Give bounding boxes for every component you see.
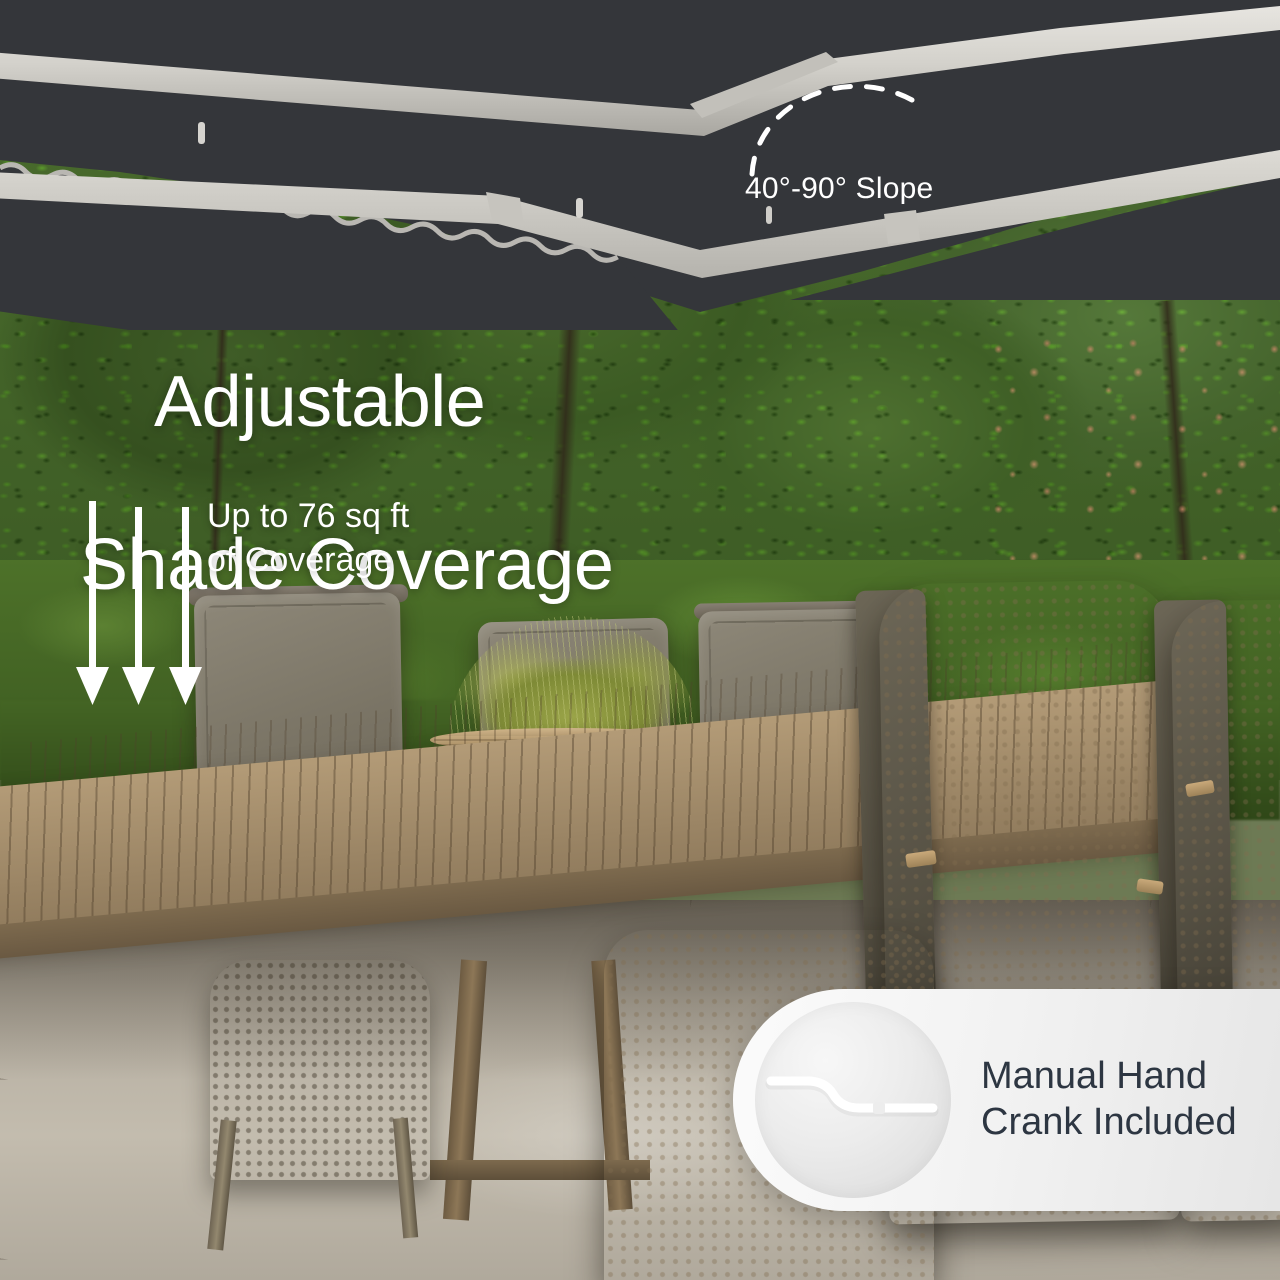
callout-line-2: Crank Included	[981, 1100, 1237, 1146]
product-banner: Adjustable Shade Coverage Up to 76 sq ft…	[0, 0, 1280, 1280]
slope-label: 40°-90° Slope	[745, 172, 933, 206]
headline-line-1: Adjustable	[154, 362, 485, 442]
down-arrow-icon	[76, 501, 109, 705]
flowering-shrub	[980, 330, 1280, 560]
callout-line-1: Manual Hand	[981, 1054, 1237, 1100]
hand-crank-icon	[755, 1002, 951, 1198]
coverage-arrows	[60, 495, 240, 715]
down-arrow-icon	[122, 507, 155, 705]
manual-crank-callout-card: Manual Hand Crank Included	[733, 989, 1280, 1211]
callout-text: Manual Hand Crank Included	[981, 1054, 1237, 1145]
down-arrow-icon	[169, 507, 202, 705]
